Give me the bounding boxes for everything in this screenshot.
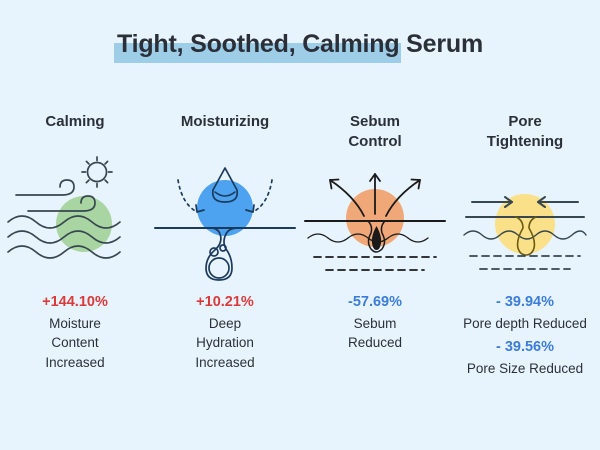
heading-line: Control — [348, 132, 401, 152]
stat-label: Moisture Content Increased — [0, 314, 150, 373]
stat-value: -57.69% — [300, 292, 450, 314]
stat-label-line: Reduced — [300, 333, 450, 353]
stat-label: Pore depth Reduced — [450, 314, 600, 334]
title-highlighted-text: Tight, Soothed, Calming — [117, 30, 399, 59]
column-pore-tightening: Pore Tightening — [450, 112, 600, 379]
stat-label-line: Pore Size Reduced — [450, 359, 600, 379]
stat-value: +10.21% — [150, 292, 300, 314]
pore-tightening-arrows-icon — [450, 156, 600, 286]
stat-label-line: Deep — [150, 314, 300, 334]
stat-label-line: Hydration — [150, 333, 300, 353]
stat-value: - 39.56% — [450, 337, 600, 359]
column-heading-calming: Calming — [45, 112, 104, 154]
stats-moisturizing: +10.21% Deep Hydration Increased — [150, 292, 300, 372]
stat-label-line: Content — [0, 333, 150, 353]
stat-label: Sebum Reduced — [300, 314, 450, 353]
column-heading-moisturizing: Moisturizing — [181, 112, 269, 154]
stat-value: +144.10% — [0, 292, 150, 314]
heading-line: Tightening — [487, 132, 563, 152]
infographic-root: Tight, Soothed, Calming Serum Calming — [0, 0, 600, 450]
sebum-outflow-arrows-icon — [300, 156, 450, 286]
water-droplet-pore-icon — [150, 156, 300, 286]
stat-group: - 39.56% Pore Size Reduced — [450, 337, 600, 378]
column-calming: Calming — [0, 112, 150, 372]
title-plain-text: Serum — [399, 30, 483, 58]
column-heading-pore-tightening: Pore Tightening — [487, 112, 563, 154]
stat-group: +10.21% Deep Hydration Increased — [150, 292, 300, 372]
stat-value: - 39.94% — [450, 292, 600, 314]
heading-line: Sebum — [348, 112, 401, 132]
stat-label-line: Pore depth Reduced — [450, 314, 600, 334]
column-moisturizing: Moisturizing — [150, 112, 300, 372]
column-heading-sebum-control: Sebum Control — [348, 112, 401, 154]
stat-label-line: Increased — [0, 353, 150, 373]
stat-label: Deep Hydration Increased — [150, 314, 300, 373]
stat-label-line: Sebum — [300, 314, 450, 334]
page-title: Tight, Soothed, Calming Serum — [0, 30, 600, 78]
heading-line: Calming — [45, 112, 104, 132]
benefit-columns: Calming — [0, 112, 600, 379]
heading-line: Pore — [487, 112, 563, 132]
stat-group: - 39.94% Pore depth Reduced — [450, 292, 600, 333]
stats-sebum-control: -57.69% Sebum Reduced — [300, 292, 450, 353]
stat-group: -57.69% Sebum Reduced — [300, 292, 450, 353]
stat-label-line: Increased — [150, 353, 300, 373]
stat-label: Pore Size Reduced — [450, 359, 600, 379]
stats-calming: +144.10% Moisture Content Increased — [0, 292, 150, 372]
stats-pore-tightening: - 39.94% Pore depth Reduced - 39.56% Por… — [450, 292, 600, 379]
column-sebum-control: Sebum Control — [300, 112, 450, 353]
sun-wind-waves-icon — [0, 156, 150, 286]
heading-line: Moisturizing — [181, 112, 269, 132]
stat-label-line: Moisture — [0, 314, 150, 334]
stat-group: +144.10% Moisture Content Increased — [0, 292, 150, 372]
